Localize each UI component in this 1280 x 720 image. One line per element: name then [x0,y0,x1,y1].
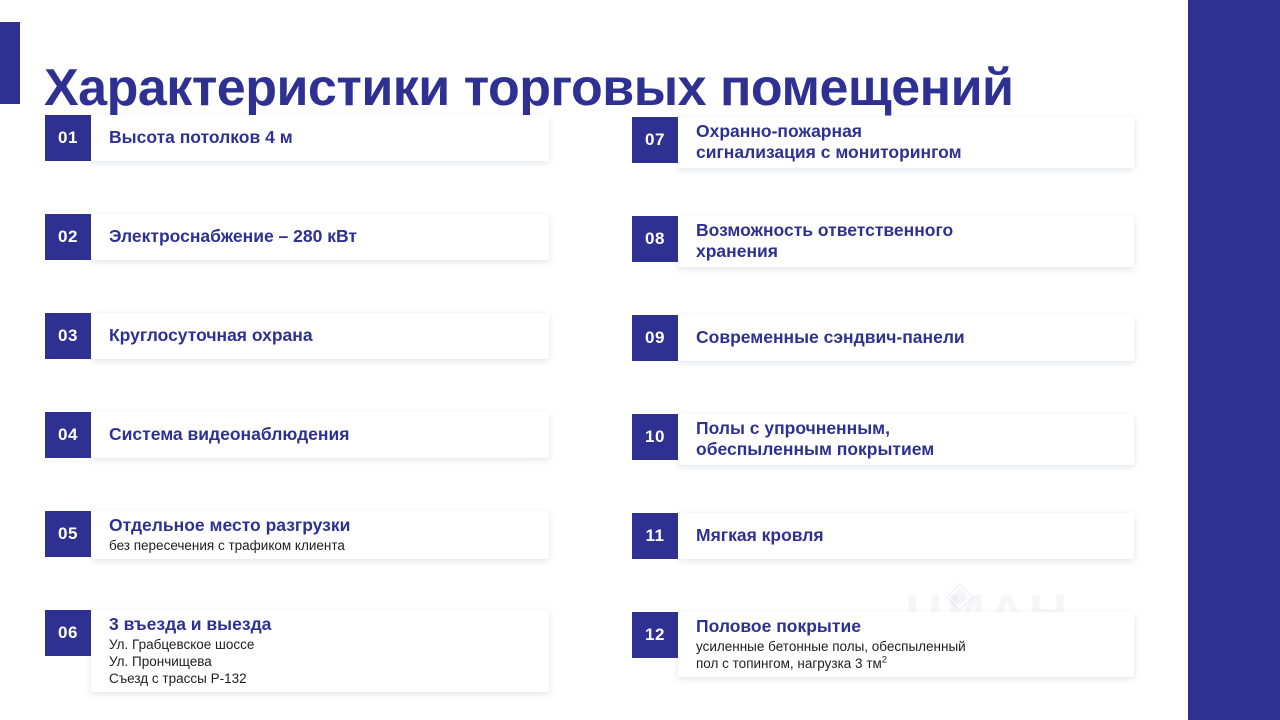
feature-title: 3 въезда и выезда [109,614,535,635]
feature-title: Высота потолков 4 м [109,127,535,148]
feature-card[interactable]: Высота потолков 4 м [91,115,549,161]
feature-subtitle: без пересечения с трафиком клиента [109,537,535,554]
feature-number-badge: 11 [632,513,678,559]
feature-subtitle: усиленные бетонные полы, обеспыленныйпол… [696,638,1120,672]
feature-title: Современные сэндвич-панели [696,327,1120,348]
feature-item[interactable]: 11Мягкая кровля [632,513,1134,559]
feature-card[interactable]: Круглосуточная охрана [91,313,549,359]
feature-item[interactable]: 01Высота потолков 4 м [45,115,549,161]
feature-item[interactable]: 063 въезда и выездаУл. Грабцевское шоссе… [45,610,549,656]
accent-bar-left [0,22,20,104]
feature-title: Полы с упрочненным, обеспыленным покрыти… [696,418,1120,460]
feature-item[interactable]: 07Охранно-пожарная сигнализация с монито… [632,117,1134,163]
feature-item[interactable]: 02Электроснабжение – 280 кВт [45,214,549,260]
feature-title: Отдельное место разгрузки [109,515,535,536]
feature-number-badge: 10 [632,414,678,460]
feature-card[interactable]: Современные сэндвич-панели [678,315,1134,361]
feature-item[interactable]: 03Круглосуточная охрана [45,313,549,359]
feature-subtitle: Ул. Грабцевское шоссе Ул. Прончищева Съе… [109,636,535,687]
feature-number-badge: 06 [45,610,91,656]
accent-bar-right [1188,0,1280,720]
feature-number-badge: 07 [632,117,678,163]
feature-title: Круглосуточная охрана [109,325,535,346]
page-title: Характеристики торговых помещений [44,57,1124,119]
feature-title: Мягкая кровля [696,525,1120,546]
feature-title: Возможность ответственного хранения [696,220,1120,262]
feature-item[interactable]: 09Современные сэндвич-панели [632,315,1134,361]
watermark-icon: ◈ [945,572,974,617]
feature-card[interactable]: Мягкая кровля [678,513,1134,559]
slide-root: ◈ ЦИАН Характеристики торговых помещений… [0,0,1280,720]
feature-number-badge: 01 [45,115,91,161]
feature-title: Электроснабжение – 280 кВт [109,226,535,247]
feature-number-badge: 08 [632,216,678,262]
feature-card[interactable]: Отдельное место разгрузкибез пересечения… [91,511,549,559]
feature-number-badge: 12 [632,612,678,658]
feature-title: Система видеонаблюдения [109,424,535,445]
feature-title: Половое покрытие [696,616,1120,637]
feature-item[interactable]: 12Половое покрытиеусиленные бетонные пол… [632,612,1134,658]
feature-number-badge: 03 [45,313,91,359]
feature-card[interactable]: 3 въезда и выездаУл. Грабцевское шоссе У… [91,610,549,692]
feature-number-badge: 04 [45,412,91,458]
feature-card[interactable]: Электроснабжение – 280 кВт [91,214,549,260]
feature-item[interactable]: 05Отдельное место разгрузкибез пересечен… [45,511,549,557]
feature-card[interactable]: Возможность ответственного хранения [678,216,1134,267]
feature-card[interactable]: Половое покрытиеусиленные бетонные полы,… [678,612,1134,677]
feature-number-badge: 09 [632,315,678,361]
feature-item[interactable]: 08Возможность ответственного хранения [632,216,1134,262]
feature-item[interactable]: 04Система видеонаблюдения [45,412,549,458]
feature-number-badge: 05 [45,511,91,557]
feature-number-badge: 02 [45,214,91,260]
feature-card[interactable]: Охранно-пожарная сигнализация с монитори… [678,117,1134,168]
feature-card[interactable]: Система видеонаблюдения [91,412,549,458]
feature-item[interactable]: 10Полы с упрочненным, обеспыленным покры… [632,414,1134,460]
feature-title: Охранно-пожарная сигнализация с монитори… [696,121,1120,163]
feature-card[interactable]: Полы с упрочненным, обеспыленным покрыти… [678,414,1134,465]
